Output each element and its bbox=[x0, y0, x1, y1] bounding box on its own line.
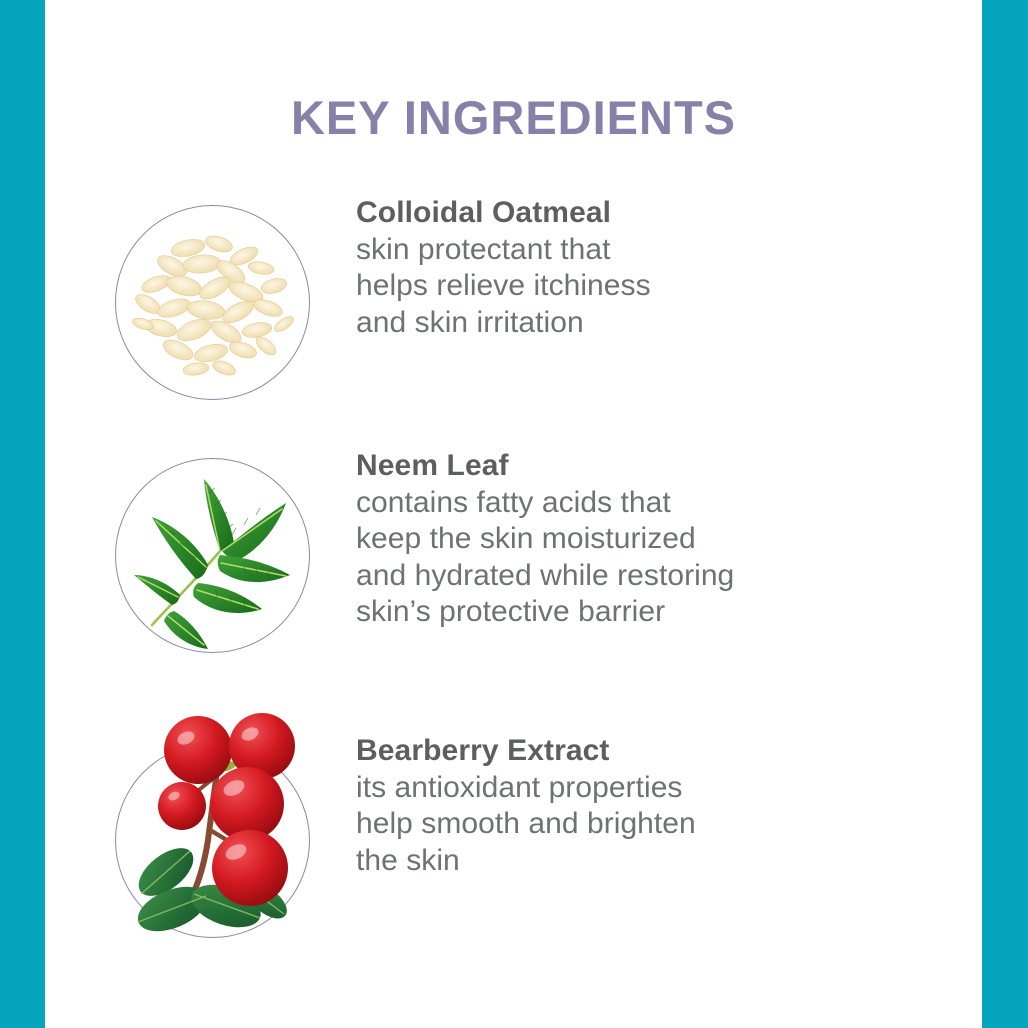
ingredient-thumb-wrap-bearberry bbox=[115, 734, 331, 950]
ingredient-list: Colloidal Oatmeal skin protectant that h… bbox=[95, 196, 968, 949]
ingredient-copy-neem: Neem Leaf contains fatty acids that keep… bbox=[331, 449, 968, 631]
ingredient-name: Colloidal Oatmeal bbox=[356, 196, 968, 230]
ingredient-copy-bearberry: Bearberry Extract its antioxidant proper… bbox=[331, 734, 968, 879]
neem-leaf-icon bbox=[116, 459, 309, 652]
ingredient-name: Neem Leaf bbox=[356, 449, 968, 483]
page-title: KEY INGREDIENTS bbox=[45, 92, 982, 144]
ingredient-circle-oatmeal bbox=[115, 205, 310, 400]
ingredient-item-bearberry-extract: Bearberry Extract its antioxidant proper… bbox=[95, 734, 968, 949]
left-teal-band bbox=[0, 0, 45, 1028]
ingredient-circle-bearberry bbox=[115, 743, 310, 938]
ingredient-description: its antioxidant properties help smooth a… bbox=[356, 770, 968, 880]
right-teal-band bbox=[982, 0, 1028, 1028]
ingredient-description: contains fatty acids that keep the skin … bbox=[356, 485, 968, 631]
ingredient-item-neem-leaf: Neem Leaf contains fatty acids that keep… bbox=[95, 449, 968, 734]
oatmeal-flakes-icon bbox=[116, 206, 309, 399]
ingredient-description: skin protectant that helps relieve itchi… bbox=[356, 232, 968, 342]
bearberry-branch-icon bbox=[116, 744, 309, 937]
ingredient-thumb-wrap-neem bbox=[115, 449, 331, 665]
key-ingredients-infographic: KEY INGREDIENTS bbox=[0, 0, 1028, 1028]
ingredient-name: Bearberry Extract bbox=[356, 734, 968, 768]
ingredient-circle-neem bbox=[115, 458, 310, 653]
ingredient-item-colloidal-oatmeal: Colloidal Oatmeal skin protectant that h… bbox=[95, 196, 968, 449]
ingredient-thumb-wrap-oatmeal bbox=[115, 196, 331, 412]
ingredient-copy-oatmeal: Colloidal Oatmeal skin protectant that h… bbox=[331, 196, 968, 341]
